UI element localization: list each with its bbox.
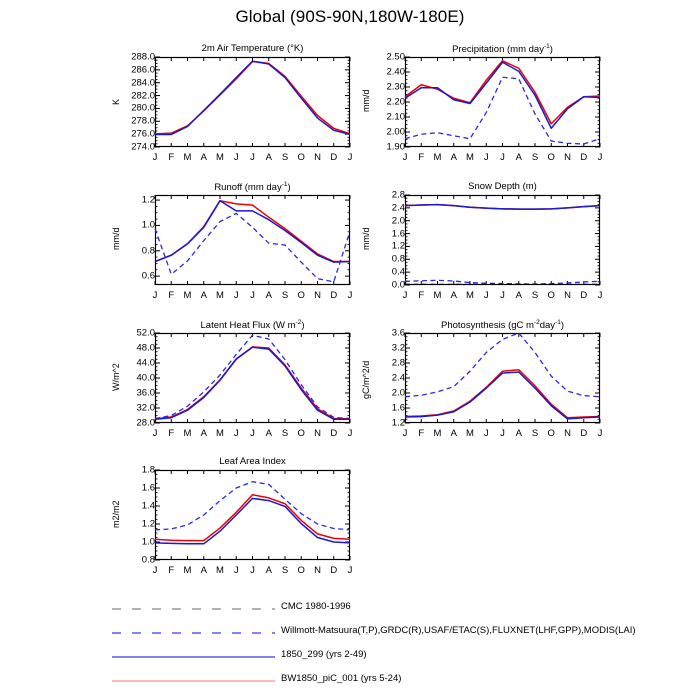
plot-area-leaf-area-index bbox=[155, 470, 350, 560]
x-tick-label: J bbox=[250, 290, 255, 301]
y-tick-label: 52.0 bbox=[109, 328, 159, 339]
legend-1850-299-label: 1850_299 (yrs 2-49) bbox=[281, 649, 367, 660]
x-tick-label: O bbox=[548, 428, 555, 439]
x-tick-label: D bbox=[330, 428, 337, 439]
x-tick-label: A bbox=[201, 428, 207, 439]
x-tick-label: J bbox=[348, 565, 353, 576]
y-tick-label: 36.0 bbox=[109, 388, 159, 399]
x-tick-label: F bbox=[418, 152, 424, 163]
legend-cmc-label: CMC 1980-1996 bbox=[281, 601, 351, 612]
legend-obs-swatch bbox=[112, 630, 277, 636]
x-tick-label: S bbox=[532, 152, 538, 163]
series-line bbox=[155, 347, 350, 419]
y-tick-label: 288.0 bbox=[109, 52, 159, 63]
plot-frame bbox=[156, 196, 350, 285]
plot-area-air-temperature bbox=[155, 57, 350, 147]
panel-latent-heat-flux: Latent Heat Flux (W m-2)W/m^228.032.036.… bbox=[155, 333, 350, 423]
x-tick-label: S bbox=[532, 428, 538, 439]
x-tick-label: J bbox=[234, 152, 239, 163]
legend-cmc-swatch bbox=[112, 606, 277, 612]
series-line bbox=[405, 372, 600, 419]
y-tick-label: 0.0 bbox=[359, 280, 409, 291]
x-tick-label: A bbox=[266, 428, 272, 439]
plot-frame bbox=[156, 58, 350, 147]
x-tick-label: M bbox=[216, 290, 224, 301]
x-tick-label: F bbox=[418, 428, 424, 439]
x-tick-label: J bbox=[250, 565, 255, 576]
series-line bbox=[155, 498, 350, 543]
x-tick-label: A bbox=[266, 565, 272, 576]
y-tick-label: 2.4 bbox=[359, 202, 409, 213]
legend-obs: Willmott-Matsuura(T,P),GRDC(R),USAF/ETAC… bbox=[0, 622, 700, 644]
x-tick-label: S bbox=[282, 428, 288, 439]
plot-frame bbox=[406, 334, 600, 423]
x-tick-label: J bbox=[234, 290, 239, 301]
x-tick-label: D bbox=[330, 565, 337, 576]
panel-precipitation: Precipitation (mm day-1)mm/d1.902.002.10… bbox=[405, 57, 600, 147]
panel-title-latent-heat-flux: Latent Heat Flux (W m-2) bbox=[155, 319, 350, 331]
x-tick-label: M bbox=[466, 290, 474, 301]
x-tick-label: F bbox=[168, 152, 174, 163]
x-tick-label: J bbox=[598, 290, 603, 301]
x-tick-label: O bbox=[298, 428, 305, 439]
y-tick-label: 1.2 bbox=[109, 195, 159, 206]
x-tick-label: J bbox=[500, 290, 505, 301]
series-line bbox=[405, 205, 600, 210]
series-line bbox=[405, 370, 600, 418]
x-tick-label: J bbox=[234, 565, 239, 576]
x-tick-label: J bbox=[598, 428, 603, 439]
panel-title-runoff: Runoff (mm day-1) bbox=[155, 181, 350, 193]
legend-bw1850-pic-001: BW1850_piC_001 (yrs 5-24) bbox=[0, 670, 700, 692]
panel-title-precipitation: Precipitation (mm day-1) bbox=[405, 43, 600, 55]
legend-bw1850-pic-001-swatch bbox=[112, 678, 277, 684]
x-tick-label: N bbox=[314, 428, 321, 439]
x-tick-label: O bbox=[298, 152, 305, 163]
x-tick-label: F bbox=[168, 290, 174, 301]
x-tick-label: J bbox=[153, 152, 158, 163]
x-tick-label: M bbox=[466, 152, 474, 163]
x-tick-label: M bbox=[216, 152, 224, 163]
x-tick-label: J bbox=[348, 290, 353, 301]
plot-area-latent-heat-flux bbox=[155, 333, 350, 423]
x-tick-label: A bbox=[201, 565, 207, 576]
x-tick-label: M bbox=[216, 428, 224, 439]
y-tick-label: 2.20 bbox=[359, 97, 409, 108]
legend-obs-label: Willmott-Matsuura(T,P),GRDC(R),USAF/ETAC… bbox=[281, 625, 636, 636]
x-tick-label: M bbox=[466, 428, 474, 439]
x-tick-label: J bbox=[500, 152, 505, 163]
y-tick-label: 44.0 bbox=[109, 358, 159, 369]
series-line bbox=[155, 347, 350, 419]
y-tick-label: 1.2 bbox=[359, 241, 409, 252]
x-tick-label: O bbox=[548, 290, 555, 301]
x-tick-label: J bbox=[500, 428, 505, 439]
x-tick-label: M bbox=[184, 428, 192, 439]
x-tick-label: O bbox=[298, 565, 305, 576]
series-line bbox=[405, 333, 600, 397]
x-tick-label: D bbox=[580, 428, 587, 439]
y-tick-label: 2.4 bbox=[359, 373, 409, 384]
y-tick-label: 0.8 bbox=[359, 254, 409, 265]
panel-title-photosynthesis: Photosynthesis (gC m-2day-1) bbox=[405, 319, 600, 331]
series-line bbox=[155, 62, 350, 134]
x-tick-label: F bbox=[168, 565, 174, 576]
x-tick-label: J bbox=[484, 152, 489, 163]
series-line bbox=[155, 482, 350, 530]
panel-runoff: Runoff (mm day-1)mm/d0.60.81.01.2JFMAMJJ… bbox=[155, 195, 350, 285]
plot-frame bbox=[156, 471, 350, 560]
x-tick-label: J bbox=[348, 152, 353, 163]
x-tick-label: M bbox=[434, 152, 442, 163]
panel-title-snow-depth: Snow Depth (m) bbox=[405, 181, 600, 192]
x-tick-label: J bbox=[153, 428, 158, 439]
x-tick-label: A bbox=[201, 152, 207, 163]
x-tick-label: A bbox=[516, 152, 522, 163]
series-line bbox=[405, 62, 600, 128]
x-tick-label: S bbox=[532, 290, 538, 301]
x-tick-label: D bbox=[330, 152, 337, 163]
y-tick-label: 1.6 bbox=[109, 483, 159, 494]
x-tick-label: A bbox=[266, 152, 272, 163]
y-tick-label: 2.40 bbox=[359, 67, 409, 78]
series-line bbox=[155, 495, 350, 541]
x-tick-label: J bbox=[153, 565, 158, 576]
x-tick-label: J bbox=[348, 428, 353, 439]
legend-cmc: CMC 1980-1996 bbox=[0, 598, 700, 620]
figure-root: Global (90S-90N,180W-180E) 2m Air Temper… bbox=[0, 0, 700, 700]
y-tick-label: 284.0 bbox=[109, 77, 159, 88]
y-tick-label: 1.0 bbox=[109, 537, 159, 548]
y-tick-label: 1.90 bbox=[359, 142, 409, 153]
x-tick-label: J bbox=[403, 290, 408, 301]
series-line bbox=[405, 61, 600, 124]
figure-legend: CMC 1980-1996Willmott-Matsuura(T,P),GRDC… bbox=[0, 598, 700, 698]
x-tick-label: J bbox=[403, 428, 408, 439]
x-tick-label: J bbox=[250, 152, 255, 163]
y-tick-label: 1.8 bbox=[109, 465, 159, 476]
x-tick-label: A bbox=[266, 290, 272, 301]
x-tick-label: A bbox=[451, 290, 457, 301]
x-tick-label: A bbox=[451, 152, 457, 163]
y-tick-label: 1.2 bbox=[359, 418, 409, 429]
x-tick-label: D bbox=[580, 152, 587, 163]
y-tick-label: 274.0 bbox=[109, 142, 159, 153]
y-tick-label: 2.0 bbox=[359, 388, 409, 399]
x-tick-label: M bbox=[184, 152, 192, 163]
x-tick-label: J bbox=[403, 152, 408, 163]
y-tick-label: 2.10 bbox=[359, 112, 409, 123]
x-tick-label: S bbox=[282, 152, 288, 163]
x-tick-label: J bbox=[153, 290, 158, 301]
x-tick-label: D bbox=[580, 290, 587, 301]
series-line bbox=[155, 201, 350, 262]
x-tick-label: S bbox=[282, 565, 288, 576]
x-tick-label: N bbox=[314, 290, 321, 301]
y-tick-label: 48.0 bbox=[109, 343, 159, 354]
x-tick-label: M bbox=[184, 290, 192, 301]
y-tick-label: 278.0 bbox=[109, 116, 159, 127]
series-line bbox=[155, 201, 350, 262]
panel-leaf-area-index: Leaf Area Indexm2/m20.81.01.21.41.61.8JF… bbox=[155, 470, 350, 560]
y-tick-label: 0.4 bbox=[359, 267, 409, 278]
y-tick-label: 1.2 bbox=[109, 519, 159, 530]
x-tick-label: J bbox=[234, 428, 239, 439]
legend-1850-299-swatch bbox=[112, 654, 277, 660]
x-tick-label: S bbox=[282, 290, 288, 301]
y-tick-label: 1.6 bbox=[359, 403, 409, 414]
y-tick-label: 2.8 bbox=[359, 190, 409, 201]
x-tick-label: J bbox=[250, 428, 255, 439]
y-tick-label: 1.4 bbox=[109, 501, 159, 512]
x-tick-label: O bbox=[548, 152, 555, 163]
x-tick-label: A bbox=[201, 290, 207, 301]
series-line bbox=[155, 61, 350, 134]
y-tick-label: 2.50 bbox=[359, 52, 409, 63]
x-tick-label: M bbox=[434, 290, 442, 301]
y-tick-label: 3.2 bbox=[359, 343, 409, 354]
y-tick-label: 0.8 bbox=[109, 555, 159, 566]
series-line bbox=[155, 213, 350, 281]
x-tick-label: N bbox=[314, 152, 321, 163]
plot-area-precipitation bbox=[405, 57, 600, 147]
panel-snow-depth: Snow Depth (m)mm/d0.00.40.81.21.62.02.42… bbox=[405, 195, 600, 285]
x-tick-label: A bbox=[516, 428, 522, 439]
panel-photosynthesis: Photosynthesis (gC m-2day-1)gC/m^2/d1.21… bbox=[405, 333, 600, 423]
x-tick-label: D bbox=[330, 290, 337, 301]
y-tick-label: 286.0 bbox=[109, 64, 159, 75]
x-tick-label: M bbox=[434, 428, 442, 439]
y-tick-label: 2.00 bbox=[359, 127, 409, 138]
y-tick-label: 40.0 bbox=[109, 373, 159, 384]
y-tick-label: 0.8 bbox=[109, 245, 159, 256]
y-tick-label: 2.30 bbox=[359, 82, 409, 93]
x-tick-label: A bbox=[451, 428, 457, 439]
x-tick-label: N bbox=[314, 565, 321, 576]
y-tick-label: 32.0 bbox=[109, 403, 159, 414]
x-tick-label: J bbox=[484, 428, 489, 439]
plot-area-photosynthesis bbox=[405, 333, 600, 423]
y-tick-label: 282.0 bbox=[109, 90, 159, 101]
panel-title-air-temperature: 2m Air Temperature (°K) bbox=[155, 43, 350, 54]
figure-title: Global (90S-90N,180W-180E) bbox=[0, 7, 700, 27]
y-tick-label: 276.0 bbox=[109, 129, 159, 140]
x-tick-label: N bbox=[564, 290, 571, 301]
y-tick-label: 0.6 bbox=[109, 271, 159, 282]
panel-air-temperature: 2m Air Temperature (°K)K274.0276.0278.02… bbox=[155, 57, 350, 147]
y-tick-label: 2.0 bbox=[359, 215, 409, 226]
legend-bw1850-pic-001-label: BW1850_piC_001 (yrs 5-24) bbox=[281, 673, 401, 684]
legend-1850-299: 1850_299 (yrs 2-49) bbox=[0, 646, 700, 668]
x-tick-label: J bbox=[598, 152, 603, 163]
x-tick-label: O bbox=[298, 290, 305, 301]
plot-area-snow-depth bbox=[405, 195, 600, 285]
x-tick-label: M bbox=[216, 565, 224, 576]
x-tick-label: N bbox=[564, 428, 571, 439]
y-tick-label: 1.0 bbox=[109, 220, 159, 231]
plot-area-runoff bbox=[155, 195, 350, 285]
y-tick-label: 28.0 bbox=[109, 418, 159, 429]
y-tick-label: 2.8 bbox=[359, 358, 409, 369]
panel-title-leaf-area-index: Leaf Area Index bbox=[155, 456, 350, 467]
y-tick-label: 280.0 bbox=[109, 103, 159, 114]
x-tick-label: J bbox=[484, 290, 489, 301]
y-tick-label: 3.6 bbox=[359, 328, 409, 339]
x-tick-label: F bbox=[168, 428, 174, 439]
x-tick-label: F bbox=[418, 290, 424, 301]
x-tick-label: M bbox=[184, 565, 192, 576]
x-tick-label: N bbox=[564, 152, 571, 163]
x-tick-label: A bbox=[516, 290, 522, 301]
y-tick-label: 1.6 bbox=[359, 228, 409, 239]
